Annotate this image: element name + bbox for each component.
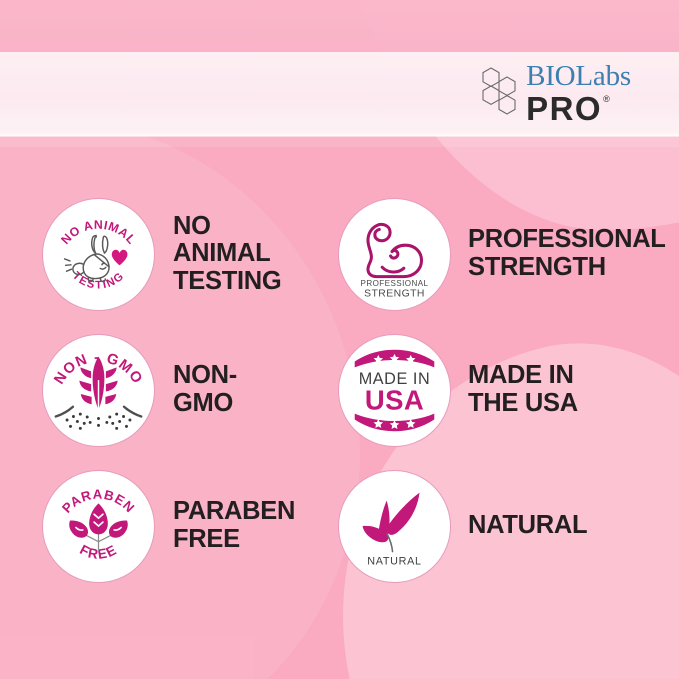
feature-label-non-gmo: NON-GMO [173, 362, 295, 417]
logo-brand-secondary: PRO [526, 92, 602, 125]
badge-natural: NATURAL [338, 470, 451, 583]
header-band-shadow [0, 137, 679, 147]
header-band-divider [0, 134, 679, 137]
feature-item-made-in-usa: MADE IN USA MADE IN THE USA [295, 322, 679, 458]
logo-wordmark: BIOLabs PRO ® [526, 62, 631, 125]
header-top-band [0, 0, 679, 52]
feature-item-non-gmo: NON - GMO [0, 322, 295, 458]
hexagon-molecule-icon [482, 64, 522, 122]
stars-banner-top-icon [355, 349, 435, 367]
logo-brand-primary: BIOLabs [526, 62, 631, 91]
svg-text:TESTING: TESTING [70, 269, 127, 291]
feature-label-made-in-usa: MADE IN THE USA [468, 362, 578, 417]
feature-badge-grid: NO ANIMAL TESTING [0, 186, 679, 594]
svg-text:PROFESSIONAL: PROFESSIONAL [361, 278, 429, 287]
badge-no-animal-testing: NO ANIMAL TESTING [42, 198, 155, 311]
feature-label-no-animal-testing: NO ANIMAL TESTING [173, 213, 295, 296]
heart-icon [112, 249, 128, 264]
badge-non-gmo: NON - GMO [42, 334, 155, 447]
feature-label-professional-strength: PROFESSIONAL STRENGTH [468, 226, 666, 281]
sprout-leaves-icon [363, 492, 420, 551]
soil-dots-icon [66, 412, 132, 429]
svg-text:USA: USA [365, 384, 424, 415]
badge-paraben-free: PARABEN FREE [42, 470, 155, 583]
three-leaf-plant-icon [69, 503, 128, 551]
feature-label-paraben-free: PARABEN FREE [173, 498, 295, 553]
feature-item-no-animal-testing: NO ANIMAL TESTING [0, 186, 295, 322]
feature-item-paraben-free: PARABEN FREE [0, 458, 295, 594]
svg-text:NATURAL: NATURAL [367, 555, 421, 567]
badge-professional-strength: PROFESSIONAL STRENGTH [338, 198, 451, 311]
badge-made-in-usa: MADE IN USA [338, 334, 451, 447]
stars-banner-bottom-icon [355, 413, 435, 431]
svg-text:NO ANIMAL: NO ANIMAL [58, 217, 139, 246]
brand-logo: BIOLabs PRO ® [482, 62, 631, 124]
feature-item-natural: NATURAL NATURAL [295, 458, 679, 594]
product-feature-infographic: BIOLabs PRO ® NO ANIMAL [0, 0, 679, 679]
logo-trademark-symbol: ® [603, 95, 610, 104]
svg-text:STRENGTH: STRENGTH [364, 288, 425, 299]
flexed-bicep-icon [368, 224, 422, 276]
feature-label-natural: NATURAL [468, 512, 587, 540]
feature-item-professional-strength: PROFESSIONAL STRENGTH PROFESSIONAL STREN… [295, 186, 679, 322]
